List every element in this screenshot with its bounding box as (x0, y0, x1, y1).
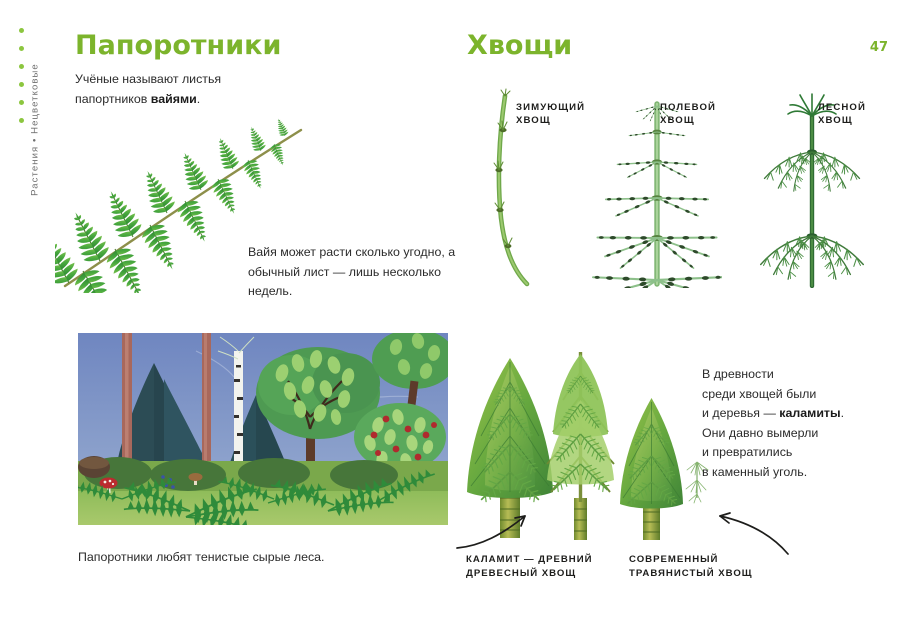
calamites-bold-term: каламиты (779, 406, 840, 420)
page-title-horsetails: Хвощи (467, 30, 572, 61)
specimen-label-wood-horsetail: лесной хвощ (818, 101, 866, 127)
calamites-note-paragraph: В древности среди хвощей были и деревья … (702, 365, 902, 482)
rail-dot (19, 100, 24, 105)
caption-modern-herbaceous-horsetail: современный травянистый хвощ (629, 553, 753, 581)
ferns-intro-bold-term: вайями (151, 92, 197, 106)
curved-arrow-left-icon (700, 500, 792, 558)
ferns-intro-paragraph: Учёные называют листья папортников вайям… (75, 70, 285, 109)
calamites-line-5: и превратились (702, 445, 792, 459)
calamites-line-3: и деревья — (702, 406, 779, 420)
page-title-ferns: Папоротники (75, 30, 281, 61)
page-number: 47 (870, 40, 888, 55)
rail-dot (19, 64, 24, 69)
calamites-line-6: в каменный уголь. (702, 465, 807, 479)
caption-calamite-ancient-tree-horsetail: каламит — древний древесный хвощ (466, 553, 593, 581)
calamites-line-3-tail: . (841, 406, 844, 420)
running-head-rail: Растения • Нецветковые (0, 0, 46, 400)
curved-arrow-right-icon (455, 500, 565, 552)
rail-dot (19, 28, 24, 33)
ferns-intro-line1: Учёные называют листья (75, 72, 221, 86)
rail-dot (19, 46, 24, 51)
ferns-intro-line2: папортников (75, 92, 151, 106)
calamites-line-2: среди хвощей были (702, 387, 816, 401)
rail-dot (19, 82, 24, 87)
rail-dots (19, 28, 27, 136)
specimen-label-winter-horsetail: зимующий хвощ (516, 101, 585, 127)
forest-watercolor-photo (78, 333, 448, 525)
rail-dot (19, 118, 24, 123)
specimen-label-field-horsetail: полевой хвощ (660, 101, 716, 127)
forest-photo-caption: Папоротники любят тенистые сырые леса. (78, 548, 438, 568)
ferns-growth-note: Вайя может расти сколько угодно, а обычн… (248, 243, 463, 302)
calamites-line-1: В древности (702, 367, 774, 381)
book-page-spread: Растения • Нецветковые Папоротники Хвощи… (0, 0, 910, 644)
ferns-intro-period: . (197, 92, 200, 106)
calamites-line-4: Они давно вымерли (702, 426, 818, 440)
running-head-text: Растения • Нецветковые (30, 35, 41, 225)
